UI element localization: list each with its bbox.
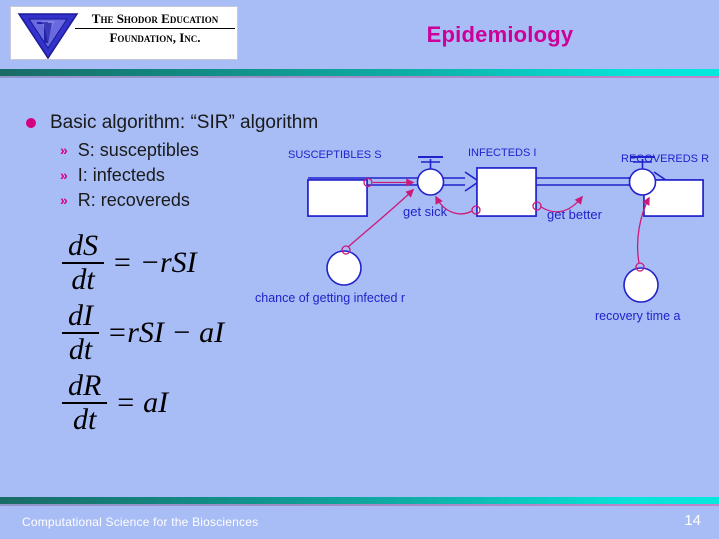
logo-divider xyxy=(75,28,235,29)
equation-right-side: = aI xyxy=(115,386,168,420)
pipe-stub-left xyxy=(240,172,250,191)
pipe-getsick-to-infecteds xyxy=(442,172,479,191)
flow-get-better[interactable] xyxy=(630,157,656,195)
page-title: Epidemiology xyxy=(300,22,700,48)
equation-right-side: = −rSI xyxy=(112,246,197,280)
sub-bullet-label: I: infecteds xyxy=(78,163,165,187)
logo-line-1: The Shodor Education xyxy=(75,11,235,27)
main-bullet-label: Basic algorithm: “SIR” algorithm xyxy=(50,110,318,135)
stock-label-susceptibles: SUSCEPTIBLES S xyxy=(288,149,382,161)
sub-bullet-label: S: susceptibles xyxy=(78,138,199,162)
shodor-logo-text: The Shodor Education Foundation, Inc. xyxy=(75,11,235,46)
stock-label-infecteds: INFECTEDS I xyxy=(468,147,536,159)
fraction: dI dt xyxy=(62,300,99,366)
pipe-infecteds-to-getbetter xyxy=(536,178,631,185)
sub-bullet-label: R: recovereds xyxy=(78,188,190,212)
equation-right-side: =rSI − aI xyxy=(107,316,224,350)
converter-recovery-time[interactable] xyxy=(624,268,658,302)
flow-label-get-better: get better xyxy=(547,207,603,222)
converter-chance-infected[interactable] xyxy=(327,251,361,285)
flow-label-get-sick: get sick xyxy=(403,204,448,219)
footer-gradient-bar xyxy=(0,497,719,504)
fraction: dS dt xyxy=(62,230,104,296)
header-gradient-bar xyxy=(0,69,719,76)
converter-label-chance-infected: chance of getting infected r xyxy=(255,291,405,305)
fraction-numerator: dR xyxy=(62,370,107,402)
equation-dr-dt: dR dt = aI xyxy=(62,370,224,436)
fraction-denominator: dt xyxy=(67,404,102,436)
shodor-triangle-logo-icon xyxy=(17,10,79,60)
sir-stock-flow-diagram: SUSCEPTIBLES S INFECTEDS I RECOVEREDS R … xyxy=(240,140,719,335)
flow-get-sick[interactable] xyxy=(418,157,444,195)
page-number: 14 xyxy=(684,512,701,529)
sub-bullet-marker-icon: » xyxy=(60,167,68,183)
footer-thin-rule xyxy=(0,504,719,506)
stock-label-recovereds: RECOVEREDS R xyxy=(621,153,709,165)
header-thin-rule xyxy=(0,76,719,78)
bullet-dot-icon xyxy=(26,118,36,128)
fraction: dR dt xyxy=(62,370,107,436)
logo-line-2: Foundation, Inc. xyxy=(75,30,235,46)
stock-susceptibles-face[interactable] xyxy=(308,180,367,216)
shodor-logo-box: The Shodor Education Foundation, Inc. xyxy=(10,6,238,60)
fraction-denominator: dt xyxy=(65,264,100,296)
sub-bullet-marker-icon: » xyxy=(60,142,68,158)
equation-ds-dt: dS dt = −rSI xyxy=(62,230,224,296)
equation-di-dt: dI dt =rSI − aI xyxy=(62,300,224,366)
stock-infecteds-face[interactable] xyxy=(477,168,536,216)
equation-block: dS dt = −rSI dI dt =rSI − aI dR dt = aI xyxy=(62,230,224,440)
list-item: Basic algorithm: “SIR” algorithm xyxy=(26,110,326,135)
slide-root: { "slide": { "title": "Epidemiology", "t… xyxy=(0,0,719,539)
fraction-numerator: dS xyxy=(62,230,104,262)
fraction-denominator: dt xyxy=(63,334,98,366)
sub-bullet-marker-icon: » xyxy=(60,192,68,208)
converter-label-recovery-time: recovery time a xyxy=(595,309,680,323)
footer-label: Computational Science for the Bioscience… xyxy=(22,515,258,529)
fraction-numerator: dI xyxy=(62,300,99,332)
